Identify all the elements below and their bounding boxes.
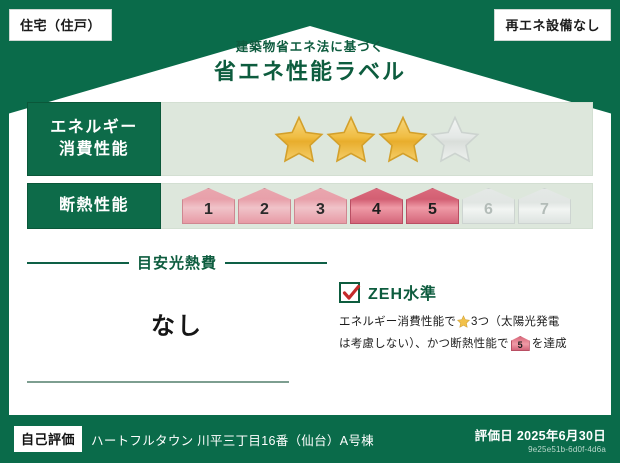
energy-performance-label: エネルギー 消費性能 xyxy=(27,102,161,176)
renewable-equipment-badge: 再エネ設備なし xyxy=(494,9,611,41)
insulation-grade-scale: 1234567 xyxy=(182,188,571,224)
inline-grade-badge: 5 xyxy=(511,336,530,351)
grade-number: 6 xyxy=(484,202,493,224)
insulation-label-line-1: 断熱性能 xyxy=(59,195,129,217)
insulation-grade-7: 7 xyxy=(518,188,571,224)
grade-number: 3 xyxy=(316,202,325,224)
zeh-title: ZEH水準 xyxy=(368,280,437,304)
energy-performance-value xyxy=(161,102,593,176)
zeh-panel: ZEH水準 エネルギー消費性能で3つ（太陽光発電は考慮しない）、かつ断熱性能で5… xyxy=(327,240,593,405)
insulation-grade-4: 4 xyxy=(350,188,403,224)
utility-cost-bottom-rule xyxy=(27,381,289,383)
title-main: 省エネ性能ラベル xyxy=(0,59,620,85)
utility-cost-value: なし xyxy=(27,306,327,341)
grade-number: 5 xyxy=(428,202,437,224)
lower-section: 目安光熱費 なし ZEH水準 エネルギー消費性能で3つ（太陽光発電は考慮しない）… xyxy=(27,240,593,405)
energy-label-line-1: エネルギー xyxy=(50,117,138,139)
heading-rule-right xyxy=(225,262,327,264)
insulation-performance-value: 1234567 xyxy=(161,183,593,229)
utility-cost-panel: 目安光熱費 なし xyxy=(27,240,327,405)
energy-performance-row: エネルギー 消費性能 xyxy=(27,102,593,176)
title-subtitle: 建築物省エネ法に基づく xyxy=(0,40,620,55)
housing-type-badge: 住宅（住戸） xyxy=(9,9,112,41)
label-title-block: 建築物省エネ法に基づく 省エネ性能ラベル xyxy=(0,40,620,85)
insulation-performance-label: 断熱性能 xyxy=(27,183,161,229)
document-id: 9e25e51b-6d0f-4d6a xyxy=(475,445,606,454)
utility-cost-heading: 目安光熱費 xyxy=(137,252,217,273)
insulation-grade-6: 6 xyxy=(462,188,515,224)
energy-label-line-2: 消費性能 xyxy=(59,139,129,161)
footer-left: 自己評価 ハートフルタウン 川平三丁目16番（仙台）A号棟 xyxy=(14,426,475,452)
zeh-desc-star-count: 3つ（太陽光発電 xyxy=(471,316,560,328)
insulation-grade-3: 3 xyxy=(294,188,347,224)
grade-number: 4 xyxy=(372,202,381,224)
insulation-grade-5: 5 xyxy=(406,188,459,224)
star-filled-icon xyxy=(326,115,376,163)
zeh-desc-part-2: は考慮しない）、かつ断熱性能で xyxy=(339,338,509,350)
check-icon xyxy=(342,284,361,303)
zeh-desc-part-3: を達成 xyxy=(532,338,567,350)
star-filled-icon xyxy=(274,115,324,163)
zeh-header: ZEH水準 xyxy=(339,280,593,304)
insulation-grade-1: 1 xyxy=(182,188,235,224)
self-evaluation-badge: 自己評価 xyxy=(14,426,82,452)
evaluation-date: 評価日 2025年6月30日 xyxy=(475,425,606,444)
rating-table: エネルギー 消費性能 断熱性能 1234567 xyxy=(27,102,593,236)
insulation-grade-2: 2 xyxy=(238,188,291,224)
grade-number: 1 xyxy=(204,202,213,224)
inline-grade-number: 5 xyxy=(511,336,530,351)
heading-rule-left xyxy=(27,262,129,264)
zeh-desc-part-1: エネルギー消費性能で xyxy=(339,316,456,328)
insulation-performance-row: 断熱性能 1234567 xyxy=(27,183,593,229)
zeh-checkbox[interactable] xyxy=(339,282,360,303)
property-name: ハートフルタウン 川平三丁目16番（仙台）A号棟 xyxy=(91,430,374,449)
grade-number: 7 xyxy=(540,202,549,224)
zeh-description: エネルギー消費性能で3つ（太陽光発電は考慮しない）、かつ断熱性能で5を達成 xyxy=(339,313,593,354)
star-filled-icon xyxy=(378,115,428,163)
utility-cost-heading-row: 目安光熱費 xyxy=(27,240,327,273)
energy-performance-label: 住宅（住戸） 再エネ設備なし 建築物省エネ法に基づく 省エネ性能ラベル エネルギ… xyxy=(0,0,620,463)
footer-right: 評価日 2025年6月30日 9e25e51b-6d0f-4d6a xyxy=(475,425,606,454)
label-footer: 自己評価 ハートフルタウン 川平三丁目16番（仙台）A号棟 評価日 2025年6… xyxy=(0,415,620,463)
star-rating xyxy=(274,115,480,163)
inline-star-icon xyxy=(457,315,470,335)
star-empty-icon xyxy=(430,115,480,163)
grade-number: 2 xyxy=(260,202,269,224)
